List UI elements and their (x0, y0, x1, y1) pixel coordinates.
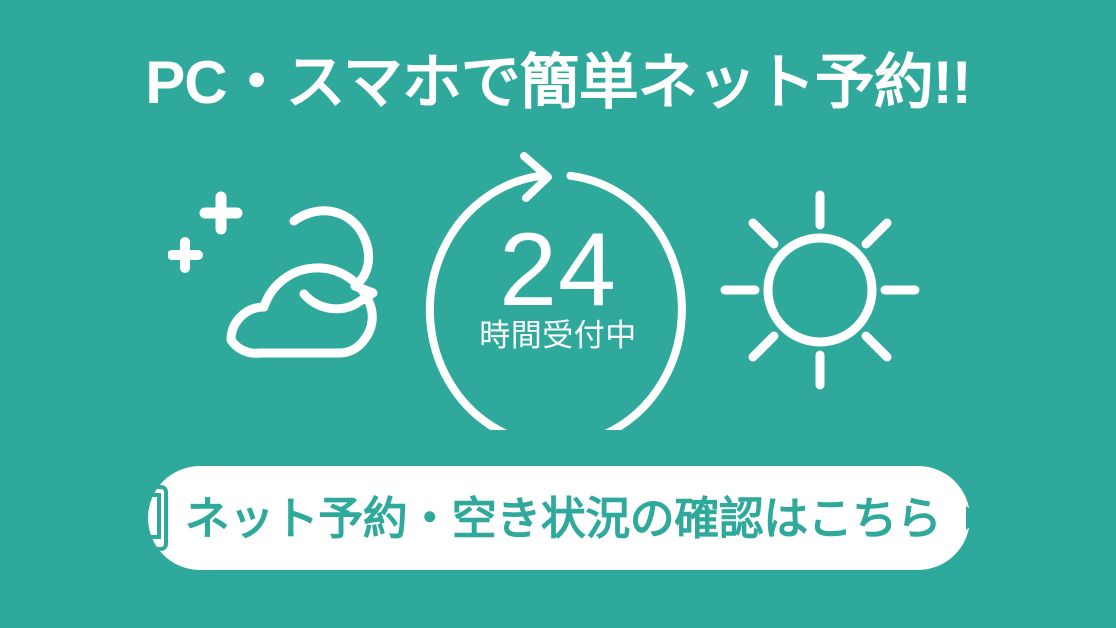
smartphone-icon (125, 484, 169, 552)
sparkle-large-icon (205, 197, 237, 229)
reservation-cta-button[interactable]: ネット予約・空き状況の確認はこちら (148, 466, 970, 570)
triangle-right-shape (966, 506, 982, 530)
badge-caption: 時間受付中 (420, 320, 696, 351)
badge-number: 24 (420, 218, 696, 322)
sun-icon-svg (715, 150, 925, 430)
sun-icon (715, 150, 925, 430)
sun-disc-shape (768, 238, 872, 342)
sun-rays-group (725, 195, 915, 385)
cta-content: ネット予約・空き状況の確認はこちら (125, 484, 986, 552)
smartphone-screen-shape (135, 495, 159, 537)
triangle-right-icon (963, 503, 985, 533)
page-title: PC・スマホで簡単ネット予約!! (0, 48, 1116, 117)
sparkle-small-icon (172, 242, 198, 268)
promo-banner: PC・スマホで簡単ネット予約!! 24 (0, 0, 1116, 628)
icon-row: 24 時間受付中 (0, 150, 1116, 430)
24h-badge: 24 時間受付中 (420, 150, 696, 430)
cta-label: ネット予約・空き状況の確認はこちら (185, 496, 942, 541)
moon-cloud-icon (168, 150, 398, 430)
smartphone-home-button-shape (144, 540, 150, 546)
moon-cloud-icon-svg (168, 150, 398, 430)
